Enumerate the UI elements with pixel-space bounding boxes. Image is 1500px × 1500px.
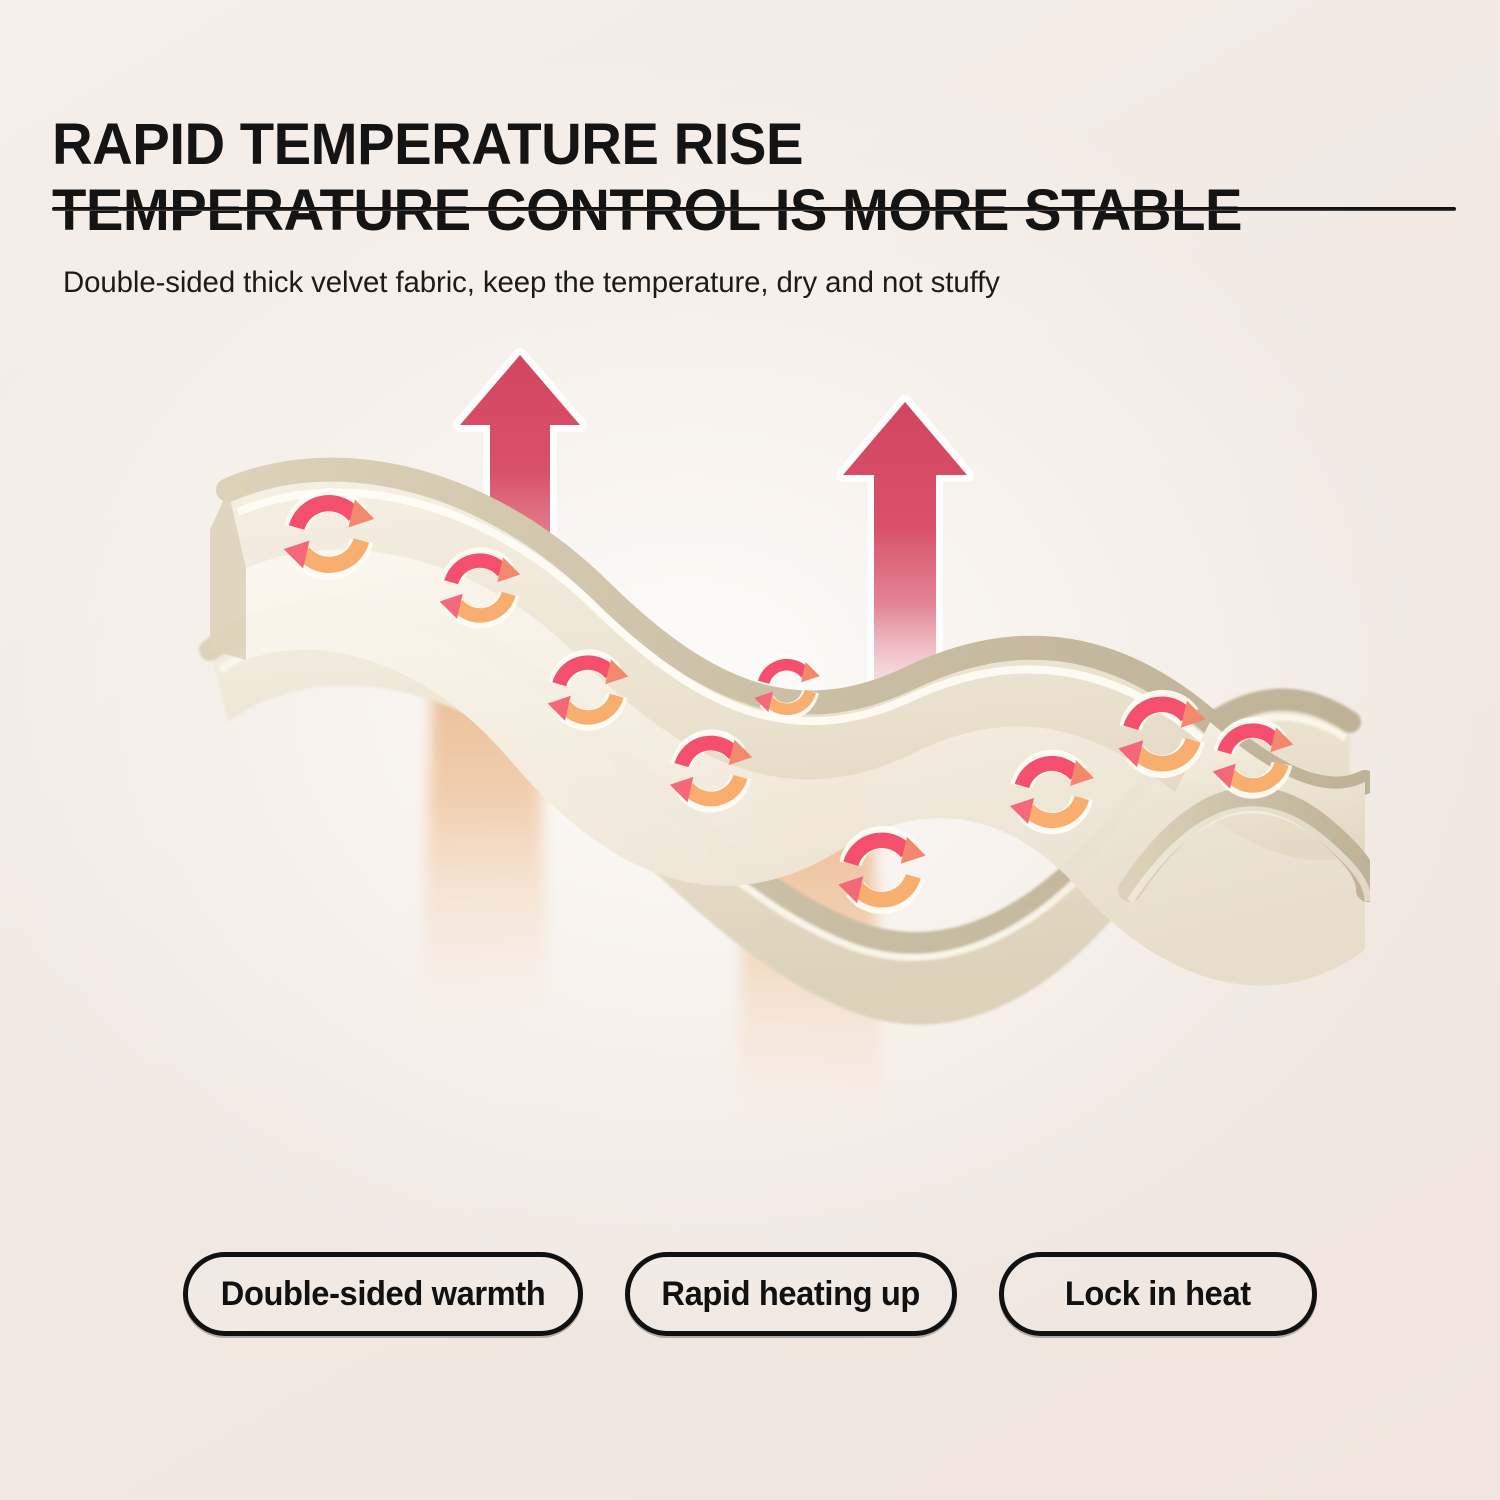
badge-label: Rapid heating up	[662, 1275, 921, 1314]
badge-double-sided-warmth[interactable]: Double-sided warmth	[183, 1252, 583, 1336]
page-background: RAPID TEMPERATURE RISE TEMPERATURE CONTR…	[0, 0, 1500, 1500]
badge-rapid-heating-up[interactable]: Rapid heating up	[625, 1252, 956, 1336]
badge-lock-in-heat[interactable]: Lock in heat	[999, 1252, 1317, 1336]
badge-label: Double-sided warmth	[221, 1275, 546, 1314]
fabric-cross-section-illustration	[150, 330, 1370, 1130]
subtitle: Double-sided thick velvet fabric, keep t…	[63, 266, 1000, 300]
headline-line-2: TEMPERATURE CONTROL IS MORE STABLE	[52, 178, 1410, 244]
badge-label: Lock in heat	[1065, 1275, 1251, 1314]
feature-badge-row: Double-sided warmth Rapid heating up Loc…	[0, 1252, 1500, 1336]
headline-line-1: RAPID TEMPERATURE RISE	[52, 112, 803, 177]
header-divider	[52, 207, 1456, 211]
